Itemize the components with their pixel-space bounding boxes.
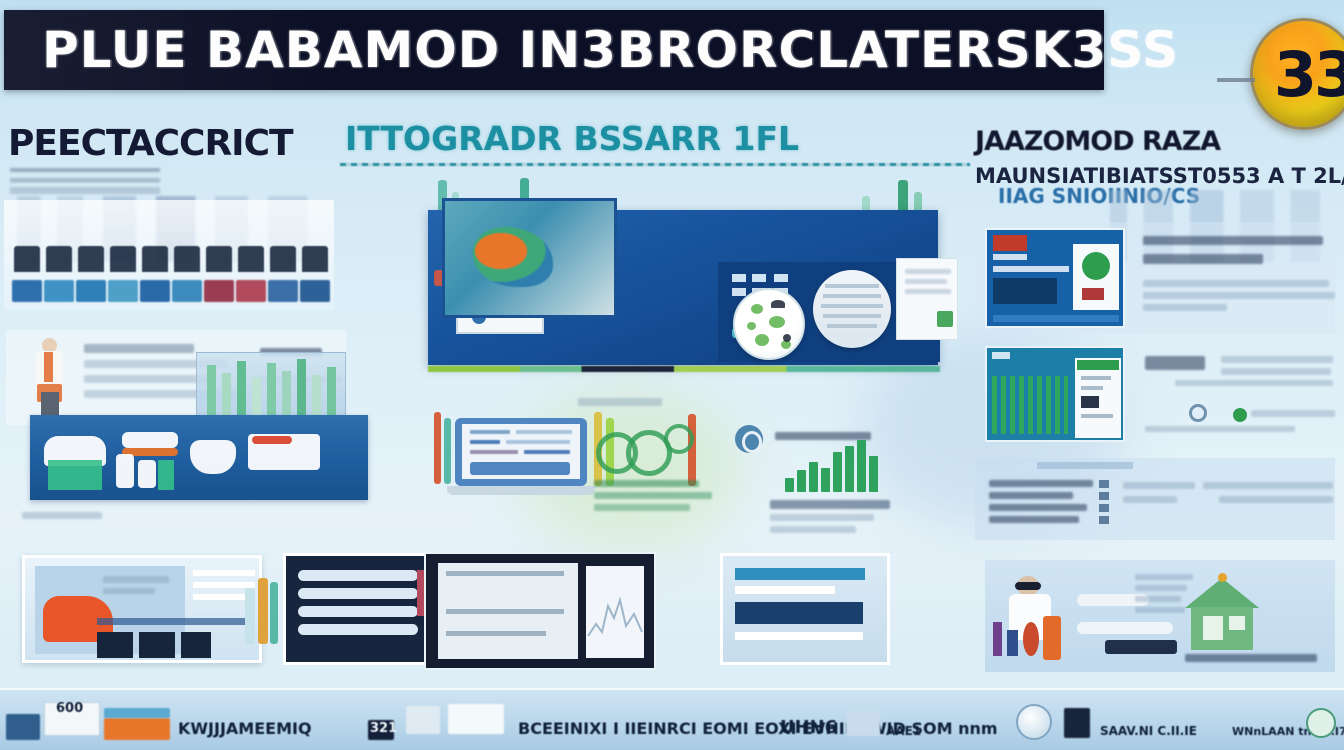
equipment-icon [174,246,200,272]
thumb-logo [993,235,1027,251]
bench-liquid [48,460,102,490]
info-card [975,342,1335,452]
doc-line [905,289,951,294]
waveform-chart [586,566,644,658]
panel-stripe [193,582,255,588]
panel-line [989,480,1093,487]
microscope-screenshot [985,228,1125,328]
instrument-panel-right [720,553,890,665]
test-tube [297,359,306,421]
footer-chip [1064,708,1090,738]
green-caption-line [594,492,712,499]
text-line [103,576,169,583]
bench-beaker [190,440,236,474]
reagent-bottle [1043,616,1061,660]
thumb-chart [992,376,1068,434]
doc-stamp [937,311,953,327]
equipment-base [108,280,138,302]
footer-text: KWJJJAMEEMIQ [178,719,312,738]
pipette [444,418,451,484]
disc-line [825,284,879,288]
row-icon [1099,480,1109,488]
panel-line [1203,482,1333,489]
green-bar-chart [785,440,880,492]
card-badge-text [1145,356,1205,370]
badge-number: 33 [1274,38,1344,111]
equipment-base [140,280,170,302]
test-tube [207,365,216,421]
page-title: PLUE BABAMOD IN3BRORCLATERSK3SS [42,25,1179,75]
chart-bar [869,456,878,492]
reagent-bottle [1007,630,1018,656]
card-body-line [1143,292,1335,299]
control-key [774,274,788,282]
card-body-line [1221,368,1331,375]
laptop-lid [455,418,587,486]
status-dot [1233,408,1247,422]
analysis-screen [438,563,578,659]
green-caption-line [594,480,699,487]
row-icon [1099,492,1109,500]
bubble-ring [664,424,694,454]
bench-liquid [158,460,174,490]
test-tube [327,367,336,421]
equipment-icon [206,246,232,272]
screen-cta [470,462,570,475]
chart-bar [797,470,806,492]
doc-line [905,269,951,274]
disc-line [821,304,883,308]
panel-line [989,504,1087,511]
card-body-line [1175,380,1333,386]
chart-caption-sub [770,526,856,533]
check-icon [1189,404,1207,422]
poster-canvas: PLUE BABAMOD IN3BRORCLATERSK3SS 33 PEECT… [0,0,1344,750]
lab-instrument [1077,622,1173,634]
chart-bar [833,452,842,492]
doc-line [905,279,947,284]
laboratory-scene [428,210,938,365]
test-tube [282,371,291,421]
equipment-icon [46,246,72,272]
note-line [1135,585,1187,591]
panel-window [139,632,175,658]
title-banner: PLUE BABAMOD IN3BRORCLATERSK3SS [4,10,1104,90]
footer-chip [846,710,880,736]
footer-text: UHH6 [780,717,837,738]
row-icon [1099,516,1109,524]
thumb-line [993,266,1069,272]
laptop-screen [462,424,580,479]
center-heading-rule [340,163,970,166]
panel-rail [298,624,418,635]
card-body-line [1143,280,1329,287]
row-icon [1099,504,1109,512]
footer-seal-icon [1016,704,1052,740]
green-facility-icon [1185,578,1259,650]
equipment-icon [302,246,328,272]
thumb-line [1081,414,1113,418]
panel-rail [298,570,418,581]
screen-row [506,440,570,444]
test-tube [222,373,231,421]
science-panel-caption [1185,654,1317,662]
note-line [1135,596,1181,602]
thumb-header [1077,360,1119,370]
text-line [775,432,871,440]
footer-text: SAAV.NI C.II.IE [1100,724,1197,738]
lab-worker-illustration [32,338,68,420]
lab-bench-panel [30,415,368,500]
thumb-panel [1075,358,1121,438]
colony-dark [783,334,791,342]
screen-row [470,430,510,434]
screen-row [516,430,572,434]
panel-header-bar [735,568,865,580]
center-divider-rule [428,366,940,372]
laptop-illustration [455,418,587,500]
card-body-line [1143,304,1227,311]
chart-bar [821,468,830,492]
left-column-subheading [10,168,160,194]
footer-band: 600 KWJJJAMEEMIQ 321 BCEEINIXI I IIEINRC… [0,688,1344,750]
data-summary-panel [975,458,1335,540]
equipment-icon [270,246,296,272]
screen-row [524,450,570,454]
card-body-line [1221,356,1333,363]
center-caption [578,398,662,406]
facility-roof [1185,578,1259,608]
footer-seal-icon [1306,708,1336,738]
equipment-base [76,280,106,302]
goggles-icon [1015,582,1041,590]
thumb-line [993,254,1027,260]
panel-window [97,632,133,658]
chart-caption-sub [770,514,874,521]
equipment-base [172,280,202,302]
footer-chip [448,704,504,734]
colony [751,304,763,314]
footer-text: BCEEINIXI I IIEINRCI EOMI EOXI EVHINEWID… [518,719,998,738]
thumb-line [1081,386,1103,390]
thumb-value [1082,288,1104,300]
waveform-svg [586,566,644,658]
green-caption-line [594,504,690,511]
screen-line [446,631,546,636]
equipment-base [268,280,298,302]
reagent-tube [417,570,424,616]
instrument-panel-left [22,555,262,663]
petri-dish [733,288,805,360]
chart-bar [857,440,866,492]
colony [769,316,785,328]
instrument-panel-dark [424,552,656,670]
panel-window [181,632,211,658]
pipette [258,578,268,644]
bench-cylinder [116,454,134,488]
sample-visualization [473,227,553,287]
thumb-footer [993,315,1119,322]
right-column-heading: JAAZOMOD RAZA [975,128,1220,155]
screen-line [446,609,564,614]
footer-text: AAE1 [886,724,921,738]
panel-line [735,586,835,594]
panel-line [735,632,863,640]
control-key [752,274,766,282]
colony [755,334,769,346]
panel-rule [97,618,247,625]
colony [747,322,756,330]
left-bottom-caption [22,512,102,519]
panel-tab [1037,462,1133,469]
pipette [434,412,441,484]
panel-line [989,492,1073,499]
equipment-base [44,280,74,302]
left-column-heading: PEECTACCRICT [8,126,293,162]
document-disc [813,270,891,348]
equipment-icon [110,246,136,272]
badge-connector-line [1217,78,1255,82]
equipment-base [204,280,234,302]
panel-stripe [193,570,255,576]
chart-caption [770,500,890,509]
control-key [732,274,746,282]
chart-bar [845,446,854,492]
thumb-line [992,352,1010,359]
card-subtitle-line [1143,254,1263,264]
facility-window [1229,616,1245,630]
chart-bar [809,462,818,492]
pipette [245,588,255,644]
thumb-panel [1073,244,1119,310]
science-illustration-panel [985,560,1335,672]
center-column-heading: ITTOGRADR BSSARR 1FL [345,122,799,155]
card-title-line [1143,236,1323,245]
info-card [975,222,1335,334]
equipment-icon [238,246,264,272]
dashboard-screenshot [985,346,1125,442]
footer-chip [104,718,170,740]
text-line [84,344,194,353]
text-line [103,588,155,594]
equipment-base [300,280,330,302]
facility-marker-dot [1218,573,1227,582]
screen-row [470,450,518,454]
panel-line [1123,482,1195,489]
bench-cylinder [138,460,156,488]
thumb-line [1081,376,1111,380]
lab-equipment-row [4,200,334,310]
lab-instrument [1105,640,1177,654]
screen-line [446,571,564,576]
panel-block [735,602,863,624]
number-badge: 33 [1250,18,1344,130]
thumb-image [993,278,1057,304]
reagent-bottle [993,622,1002,656]
bench-indicator [252,436,292,444]
equipment-icon [14,246,40,272]
footer-value: 600 [56,701,83,716]
equipment-icon [142,246,168,272]
monitor-screen [442,198,617,318]
panel-rail [298,588,418,599]
bench-tray [122,432,178,448]
text-line [84,375,212,383]
document-card [896,258,958,340]
laptop-base [447,486,595,495]
equipment-base [12,280,42,302]
disc-line [823,294,881,298]
control-key [732,288,746,296]
panel-line [989,516,1079,523]
footer-chip [406,706,440,734]
panel-rail [298,606,418,617]
chart-bar [785,478,794,492]
equipment-base [236,280,266,302]
globe-icon [735,425,763,453]
disc-line [827,324,877,328]
panel-line [1219,496,1333,503]
specimen-circle [1082,252,1110,280]
test-tube [237,361,246,421]
disc-line [823,314,881,318]
pipette [270,582,278,644]
footer-chip [104,708,170,718]
card-footer-line [1251,410,1335,417]
facility-door [1203,616,1223,640]
screen-row [470,440,500,444]
worker-scarf [44,352,53,382]
panel-line [1123,496,1177,503]
card-footer-line [1145,426,1295,432]
test-tube [267,363,276,421]
colony-dark [771,300,785,308]
note-line [1135,607,1185,613]
footer-chip [6,714,40,740]
equipment-icon [78,246,104,272]
footer-badge-number: 321 [370,721,397,736]
reagent-bottle [1023,622,1039,656]
thumb-block [1081,396,1099,408]
